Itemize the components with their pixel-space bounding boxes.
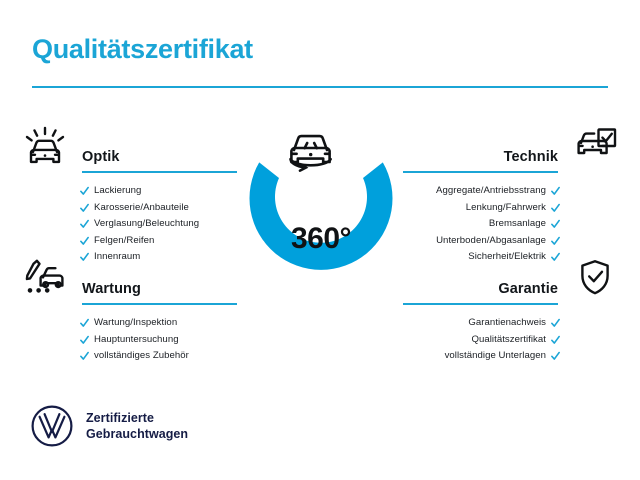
- section-divider-technik: [403, 171, 558, 173]
- section-header-optik: Optik: [22, 126, 258, 172]
- list-item-label: vollständige Unterlagen: [445, 351, 546, 361]
- vw-logo-icon: [30, 404, 74, 448]
- list-item-label: vollständiges Zubehör: [94, 351, 189, 361]
- section-title-optik: Optik: [82, 149, 120, 165]
- section-wartung: Wartung Wartung/Inspektion Hauptuntersuc…: [22, 258, 258, 365]
- list-item: Bremsanlage: [382, 216, 618, 233]
- check-mark-icon: [80, 203, 89, 213]
- badge-center-label: 360°: [228, 224, 414, 254]
- check-mark-icon: [80, 318, 89, 328]
- check-mark-icon: [80, 186, 89, 196]
- list-item-label: Hauptuntersuchung: [94, 335, 179, 345]
- check-mark-icon: [551, 203, 560, 213]
- check-list-wartung: Wartung/Inspektion Hauptuntersuchung vol…: [22, 315, 258, 365]
- check-list-garantie: Garantienachweis Qualitätszertifikat vol…: [382, 315, 618, 365]
- list-item: Hauptuntersuchung: [22, 332, 258, 349]
- list-item: vollständiges Zubehör: [22, 348, 258, 365]
- list-item-label: Karosserie/Anbauteile: [94, 203, 189, 213]
- car-shine-icon: [22, 126, 68, 170]
- check-mark-icon: [80, 219, 89, 229]
- list-item: Karosserie/Anbauteile: [22, 200, 258, 217]
- list-item: Aggregate/Antriebsstrang: [382, 183, 618, 200]
- car-checkbox-icon: [572, 126, 618, 170]
- list-item: Garantienachweis: [382, 315, 618, 332]
- list-item-label: Bremsanlage: [489, 219, 546, 229]
- list-item-label: Aggregate/Antriebsstrang: [436, 186, 546, 196]
- section-title-wartung: Wartung: [82, 281, 141, 297]
- section-technik: Technik Aggregate/Antriebsstrang Lenkung…: [382, 126, 618, 266]
- list-item: Qualitätszertifikat: [382, 332, 618, 349]
- car-service-tool-icon: [22, 258, 68, 302]
- vw-brand-lockup: Zertifizierte Gebrauchtwagen: [30, 404, 188, 448]
- list-item: Unterboden/Abgasanlage: [382, 233, 618, 250]
- page-title: Qualitätszertifikat: [32, 36, 253, 63]
- section-divider-garantie: [403, 303, 558, 305]
- list-item: vollständige Unterlagen: [382, 348, 618, 365]
- list-item-label: Qualitätszertifikat: [471, 335, 546, 345]
- check-mark-icon: [551, 318, 560, 328]
- list-item: Lackierung: [22, 183, 258, 200]
- list-item: Felgen/Reifen: [22, 233, 258, 250]
- section-divider-optik: [82, 171, 237, 173]
- car-rotate-360-icon: [291, 136, 331, 171]
- list-item: Lenkung/Fahrwerk: [382, 200, 618, 217]
- check-mark-icon: [551, 335, 560, 345]
- list-item-label: Wartung/Inspektion: [94, 318, 177, 328]
- section-divider-wartung: [82, 303, 237, 305]
- list-item-label: Lackierung: [94, 186, 141, 196]
- certificate-page: Qualitätszertifikat Optik: [0, 0, 640, 480]
- title-divider: [32, 86, 608, 88]
- list-item: Wartung/Inspektion: [22, 315, 258, 332]
- section-title-technik: Technik: [504, 149, 558, 165]
- check-mark-icon: [551, 351, 560, 361]
- section-garantie: Garantie Garantienachweis Qualitätszerti…: [382, 258, 618, 365]
- check-mark-icon: [551, 236, 560, 246]
- list-item-label: Lenkung/Fahrwerk: [466, 203, 546, 213]
- check-mark-icon: [80, 335, 89, 345]
- section-optik: Optik Lackierung Karosserie/Anbauteile: [22, 126, 258, 266]
- check-mark-icon: [80, 236, 89, 246]
- badge-360-gebrauchtwagen-check: Gebrauchtwagen-Check 360°: [228, 112, 414, 312]
- list-item-label: Verglasung/Beleuchtung: [94, 219, 199, 229]
- shield-check-icon: [572, 258, 618, 302]
- check-mark-icon: [551, 219, 560, 229]
- check-list-optik: Lackierung Karosserie/Anbauteile Verglas…: [22, 183, 258, 266]
- check-list-technik: Aggregate/Antriebsstrang Lenkung/Fahrwer…: [382, 183, 618, 266]
- list-item-label: Unterboden/Abgasanlage: [436, 236, 546, 246]
- check-mark-icon: [80, 351, 89, 361]
- section-header-wartung: Wartung: [22, 258, 258, 304]
- list-item-label: Garantienachweis: [468, 318, 546, 328]
- list-item: Verglasung/Beleuchtung: [22, 216, 258, 233]
- section-title-garantie: Garantie: [498, 281, 558, 297]
- check-mark-icon: [551, 186, 560, 196]
- list-item-label: Felgen/Reifen: [94, 236, 154, 246]
- brand-text-line2: Gebrauchtwagen: [86, 426, 188, 442]
- brand-text: Zertifizierte Gebrauchtwagen: [86, 410, 188, 442]
- section-header-garantie: Garantie: [382, 258, 618, 304]
- section-header-technik: Technik: [382, 126, 618, 172]
- brand-text-line1: Zertifizierte: [86, 410, 188, 426]
